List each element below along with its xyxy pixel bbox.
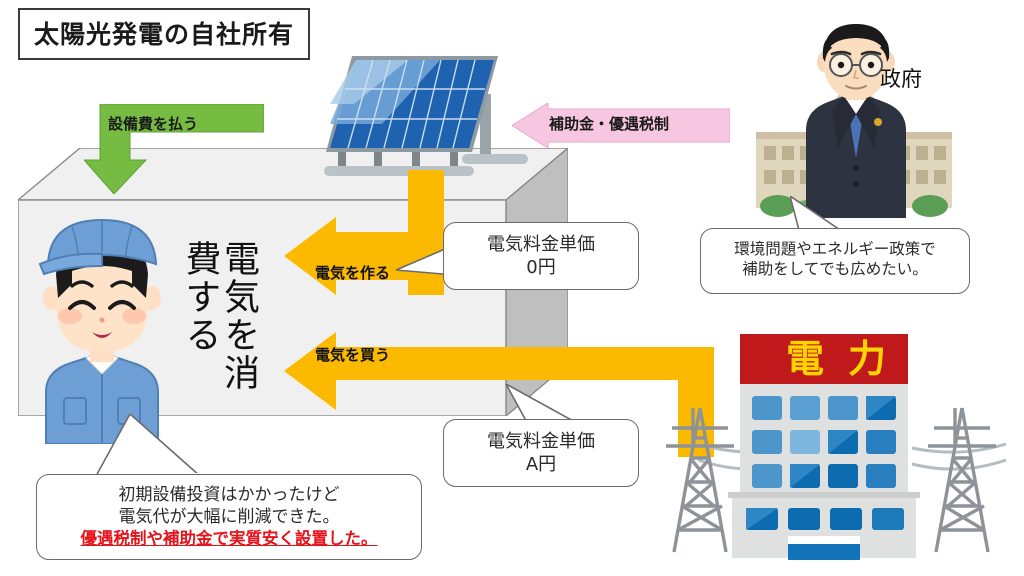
subsidy-tax-label: 補助金・優遇税制	[549, 113, 669, 134]
government-official-illustration	[748, 18, 958, 218]
government-callout-line2: 補助をしてでも広めたい。	[701, 259, 969, 279]
worker-callout: 初期設備投資はかかったけど 電気代が大幅に削減できた。 優遇税制や補助金で実質安…	[36, 474, 422, 560]
diagram-canvas: 電気を消費する	[0, 0, 1024, 576]
solar-rate-line1: 電気料金単価	[444, 233, 638, 256]
page-title-text: 太陽光発電の自社所有	[34, 20, 294, 49]
grid-rate-callout: 電気料金単価 A円	[443, 419, 639, 487]
worker-callout-line1: 初期設備投資はかかったけど	[37, 484, 421, 506]
worker-illustration	[28, 212, 176, 444]
svg-text:電: 電	[786, 337, 824, 381]
pay-equipment-cost-label: 設備費を払う	[108, 113, 198, 134]
government-callout: 環境問題やエネルギー政策で 補助をしてでも広めたい。	[700, 228, 970, 294]
solar-rate-line2: 0円	[444, 256, 638, 279]
worker-callout-line2: 電気代が大幅に削減できた。	[37, 506, 421, 528]
svg-text:力: 力	[848, 337, 886, 381]
power-company-illustration: 電 力	[652, 330, 1024, 570]
grid-rate-line2: A円	[444, 453, 638, 476]
worker-callout-line3-highlight: 優遇税制や補助金で実質安く設置した。	[37, 528, 421, 549]
page-title: 太陽光発電の自社所有	[18, 8, 310, 60]
grid-rate-line1: 電気料金単価	[444, 430, 638, 453]
worker-callout-tail	[96, 414, 206, 480]
government-callout-line1: 環境問題やエネルギー政策で	[701, 239, 969, 259]
solar-rate-callout: 電気料金単価 0円	[443, 222, 639, 290]
government-label: 政府	[880, 63, 922, 93]
consume-electricity-vertical-text: 電気を消費する	[180, 240, 257, 400]
buy-electricity-label: 電気を買う	[315, 344, 390, 365]
make-electricity-label: 電気を作る	[315, 262, 390, 283]
